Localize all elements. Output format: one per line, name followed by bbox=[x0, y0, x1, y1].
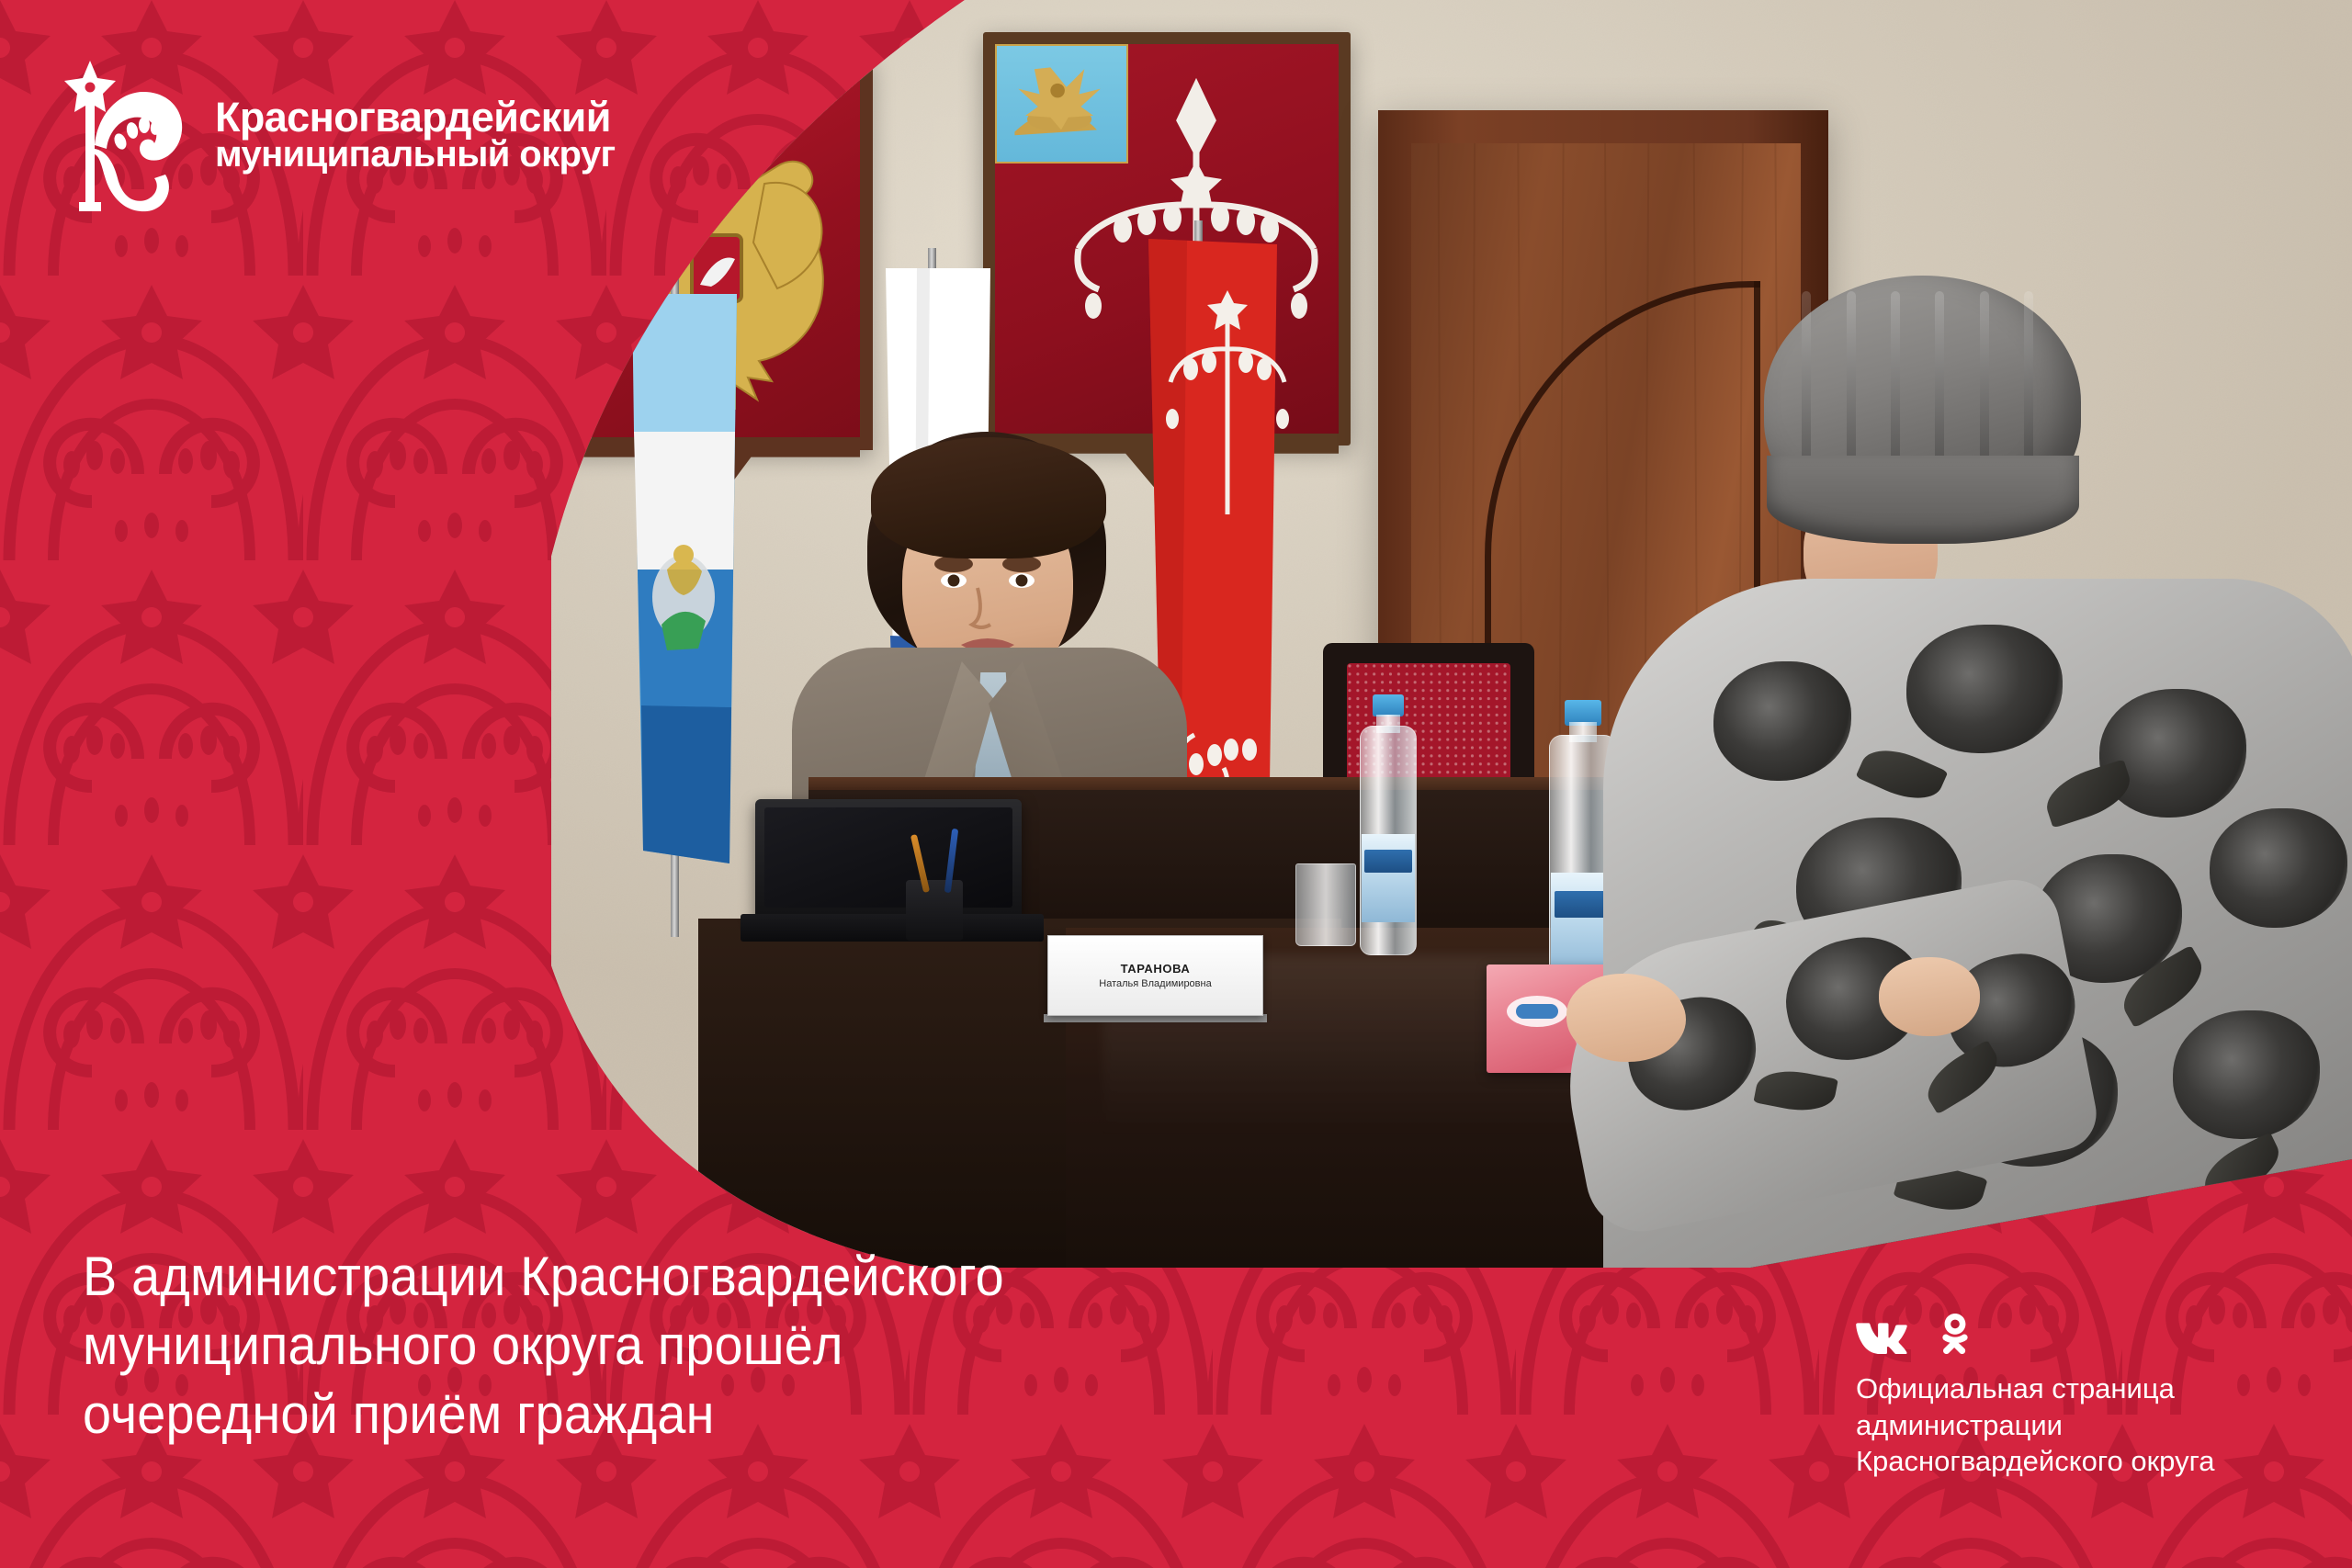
visitor-hand-left bbox=[1566, 974, 1686, 1062]
nameplate-surname: ТАРАНОВА bbox=[1121, 962, 1191, 976]
laptop-screen bbox=[764, 807, 1012, 908]
office-photo: ТАРАНОВА Наталья Владимировна bbox=[551, 0, 2352, 1286]
social-text: Официальная страница администрации Красн… bbox=[1856, 1371, 2334, 1480]
social-block: Официальная страница администрации Красн… bbox=[1856, 1314, 2334, 1480]
odnoklassniki-icon[interactable] bbox=[1937, 1314, 1973, 1358]
logo-line-1: Красногвардейский bbox=[215, 97, 616, 137]
caption-line-2: муниципального округа прошёл bbox=[83, 1311, 1416, 1380]
drinking-glass bbox=[1295, 863, 1356, 946]
social-line-2: администрации bbox=[1856, 1407, 2334, 1444]
pen-cup bbox=[906, 880, 963, 941]
logo-line-2: муниципальный округ bbox=[215, 137, 616, 172]
vk-icon[interactable] bbox=[1856, 1317, 1917, 1354]
caption-line-1: В администрации Красногвардейского bbox=[83, 1242, 1416, 1311]
hair-front bbox=[871, 437, 1106, 558]
caption-line-3: очередной приём граждан bbox=[83, 1380, 1416, 1449]
nameplate: ТАРАНОВА Наталья Владимировна bbox=[1047, 935, 1263, 1016]
visitor-person bbox=[1603, 276, 2352, 1286]
knit-hat-brim bbox=[1767, 456, 2079, 544]
social-line-3: Красногвардейского округа bbox=[1856, 1443, 2334, 1480]
laptop-base bbox=[741, 914, 1044, 942]
caption-block: В администрации Красногвардейского муниц… bbox=[83, 1242, 1516, 1449]
social-line-1: Официальная страница bbox=[1856, 1371, 2334, 1407]
brand-logo[interactable]: Красногвардейский муниципальный округ bbox=[57, 57, 616, 213]
brand-logo-text: Красногвардейский муниципальный округ bbox=[215, 97, 616, 173]
flag-belgorod-oblast bbox=[625, 294, 744, 863]
social-icon-row bbox=[1856, 1314, 2334, 1358]
water-bottle-left bbox=[1360, 726, 1417, 955]
nameplate-name-patronymic: Наталья Владимировна bbox=[1099, 978, 1211, 989]
laptop bbox=[755, 799, 1022, 919]
visitor-hand-right bbox=[1879, 957, 1980, 1036]
announcement-card: ТАРАНОВА Наталья Владимировна bbox=[0, 0, 2352, 1568]
khokhloma-k-emblem-icon bbox=[57, 57, 195, 213]
tissue-brand-badge bbox=[1507, 996, 1567, 1027]
